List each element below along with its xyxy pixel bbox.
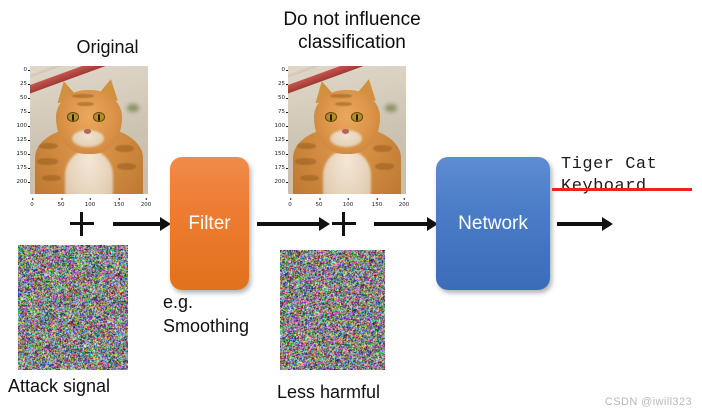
- filter-box[interactable]: Filter: [170, 157, 249, 290]
- plus-operator-left: [70, 212, 94, 236]
- network-box-label: Network: [458, 213, 528, 235]
- figure-original-xaxis: 0 50 100 150 200: [30, 198, 148, 210]
- headline-text: Do not influence classification: [243, 8, 461, 54]
- filtered-noise-image: [280, 250, 385, 370]
- label-filter-example: e.g. Smoothing: [163, 291, 249, 339]
- watermark-text: CSDN @iwill323: [605, 396, 692, 408]
- label-original: Original: [15, 37, 200, 59]
- figure-original-image: 0 25 50 75 100 125 150 175 200: [8, 66, 148, 210]
- strikethrough-line: [552, 188, 692, 191]
- network-box[interactable]: Network: [436, 157, 550, 290]
- arrow-to-network: [374, 222, 428, 226]
- filtered-cat-photo: [288, 66, 406, 194]
- arrow-from-filter: [257, 222, 320, 226]
- figure-original-yaxis: 0 25 50 75 100 125 150 175 200: [8, 66, 30, 210]
- figure-filtered-yaxis: 0 25 50 75 100 125 150 175 200: [266, 66, 288, 210]
- figure-filtered-xaxis: 0 50 100 150 200: [288, 198, 406, 210]
- arrow-to-filter: [113, 222, 161, 226]
- original-cat-photo: [30, 66, 148, 194]
- filter-box-label: Filter: [188, 213, 230, 235]
- plus-operator-right: [332, 212, 356, 236]
- prediction-wrong-label: Keyboard: [561, 177, 647, 196]
- label-less-harmful: Less harmful: [277, 382, 380, 404]
- figure-filtered-image: 0 25 50 75 100 125 150 175 200: [266, 66, 406, 210]
- label-attack-signal: Attack signal: [8, 376, 110, 398]
- arrow-from-network: [557, 222, 603, 226]
- attack-noise-image: [18, 245, 128, 370]
- diagram-canvas: Do not influence classification 0 25 50 …: [0, 0, 702, 416]
- prediction-correct-label: Tiger Cat: [561, 155, 657, 174]
